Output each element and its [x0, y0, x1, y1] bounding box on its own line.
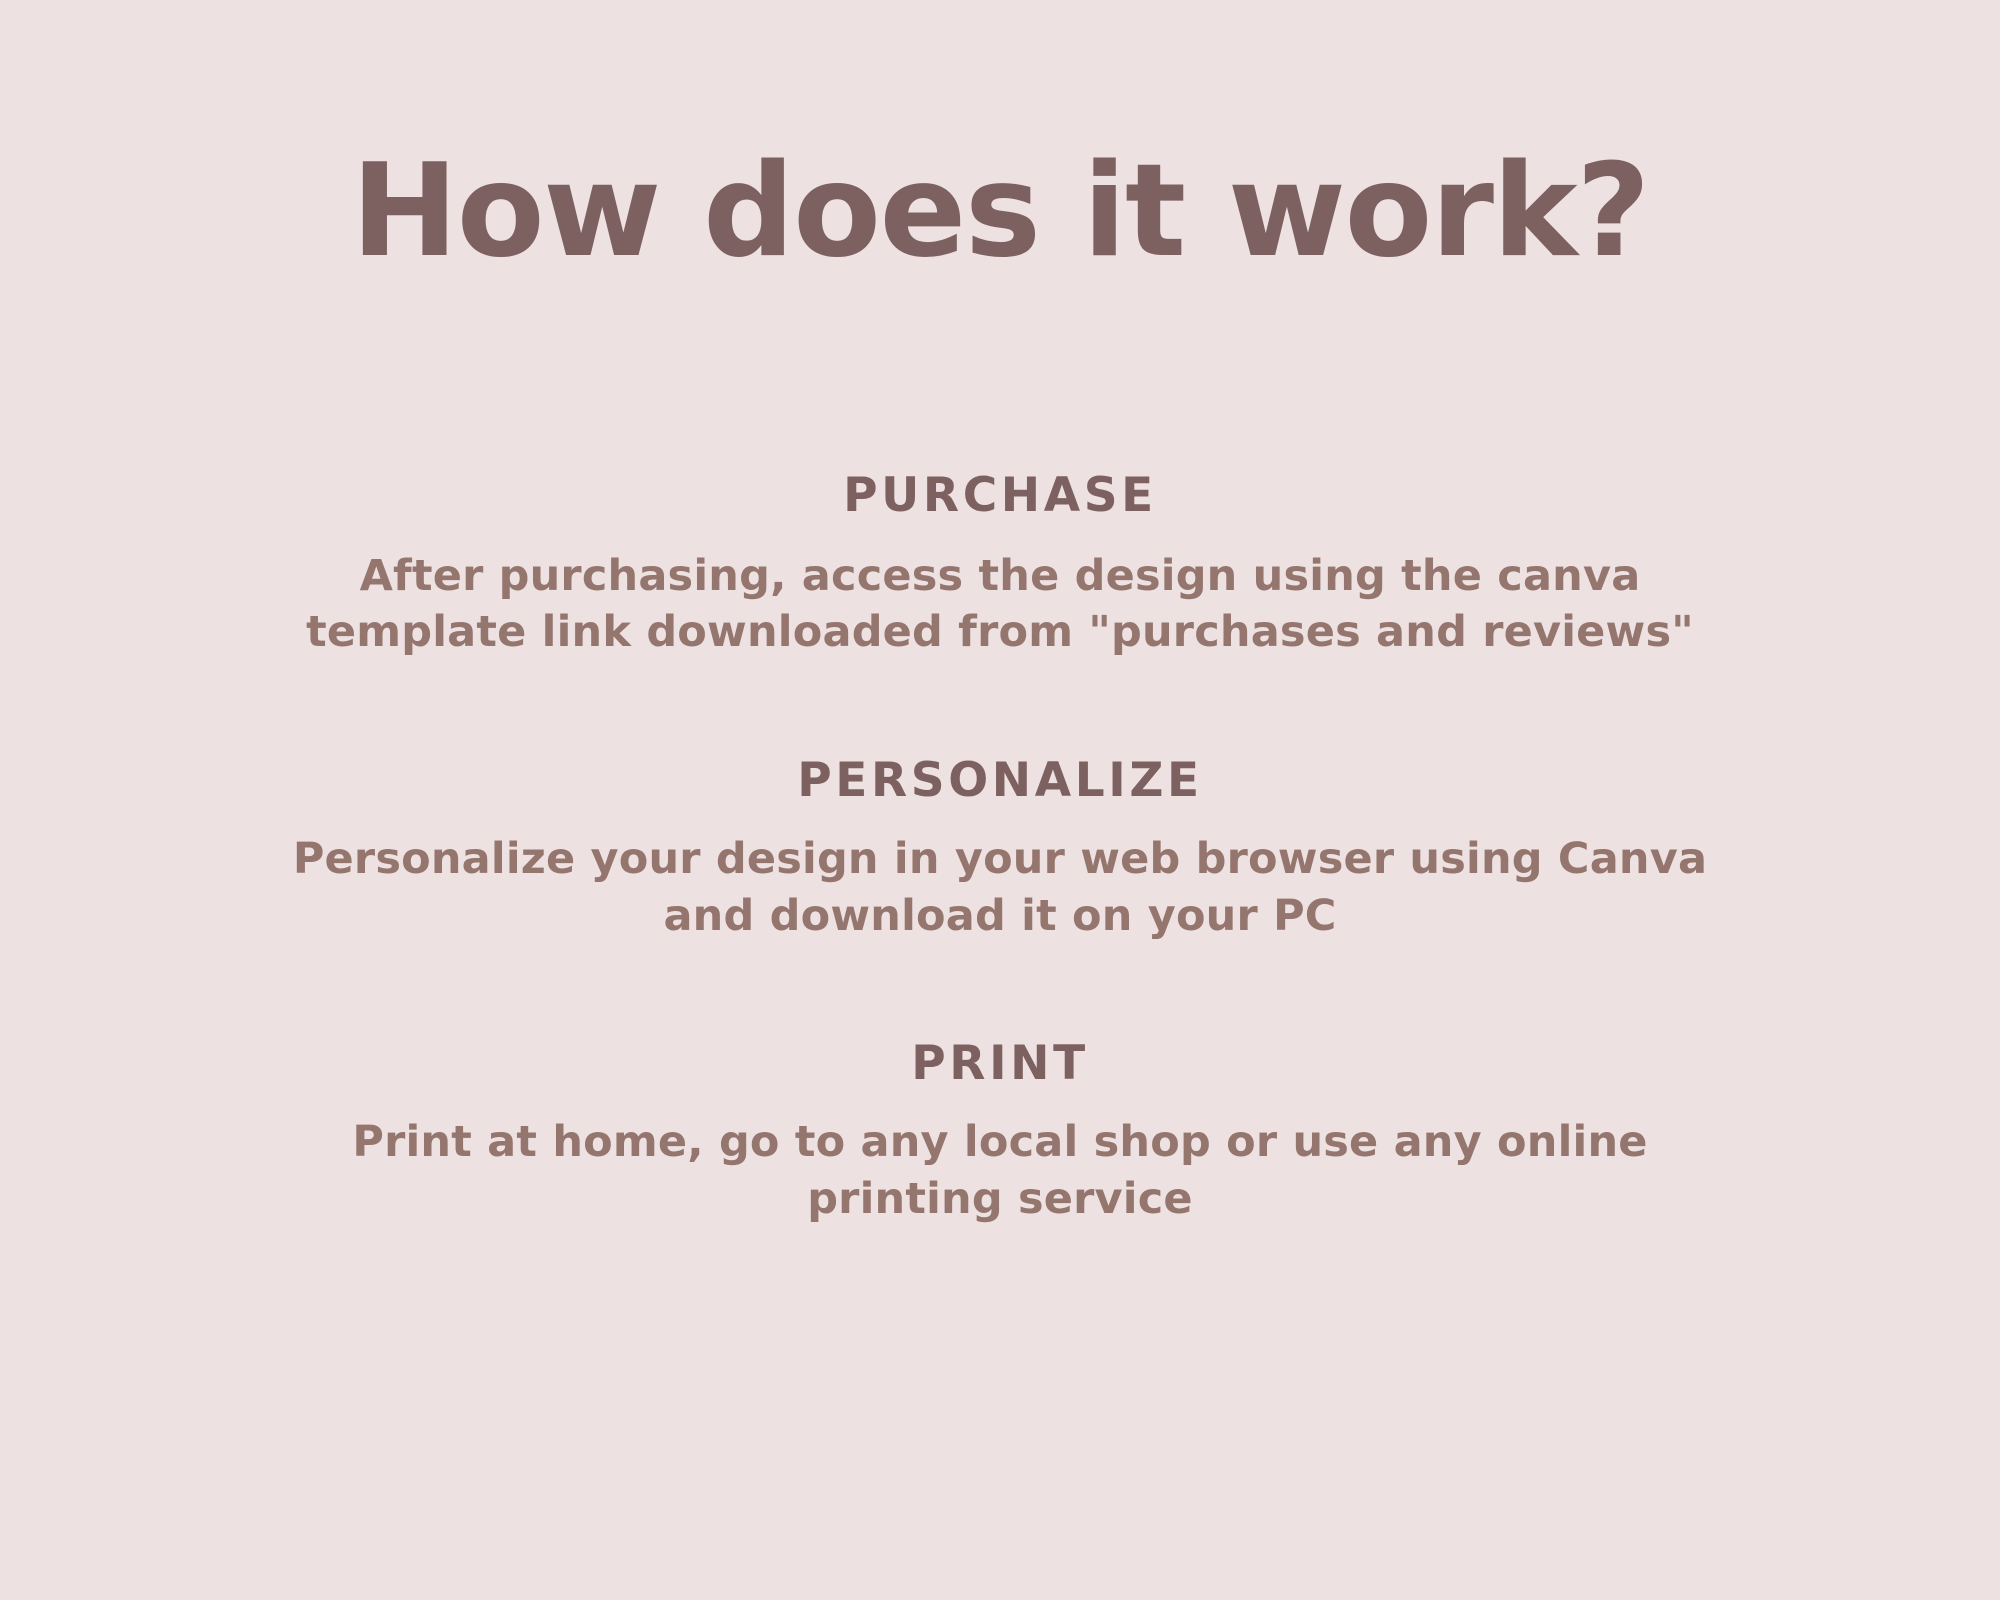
how-it-works-poster: How does it work? PURCHASE After purchas… [0, 0, 2000, 1600]
step-personalize-heading: PERSONALIZE [0, 755, 2000, 807]
step-personalize-body: Personalize your design in your web brow… [190, 831, 1810, 945]
step-purchase-heading: PURCHASE [0, 470, 2000, 522]
page-title: How does it work? [0, 148, 2000, 276]
step-purchase: PURCHASE After purchasing, access the de… [0, 470, 2000, 661]
step-print: PRINT Print at home, go to any local sho… [0, 1038, 2000, 1227]
step-personalize: PERSONALIZE Personalize your design in y… [0, 755, 2000, 944]
step-print-body: Print at home, go to any local shop or u… [190, 1114, 1810, 1228]
steps-list: PURCHASE After purchasing, access the de… [0, 470, 2000, 1228]
step-print-heading: PRINT [0, 1038, 2000, 1090]
step-purchase-body: After purchasing, access the design usin… [190, 548, 1810, 662]
